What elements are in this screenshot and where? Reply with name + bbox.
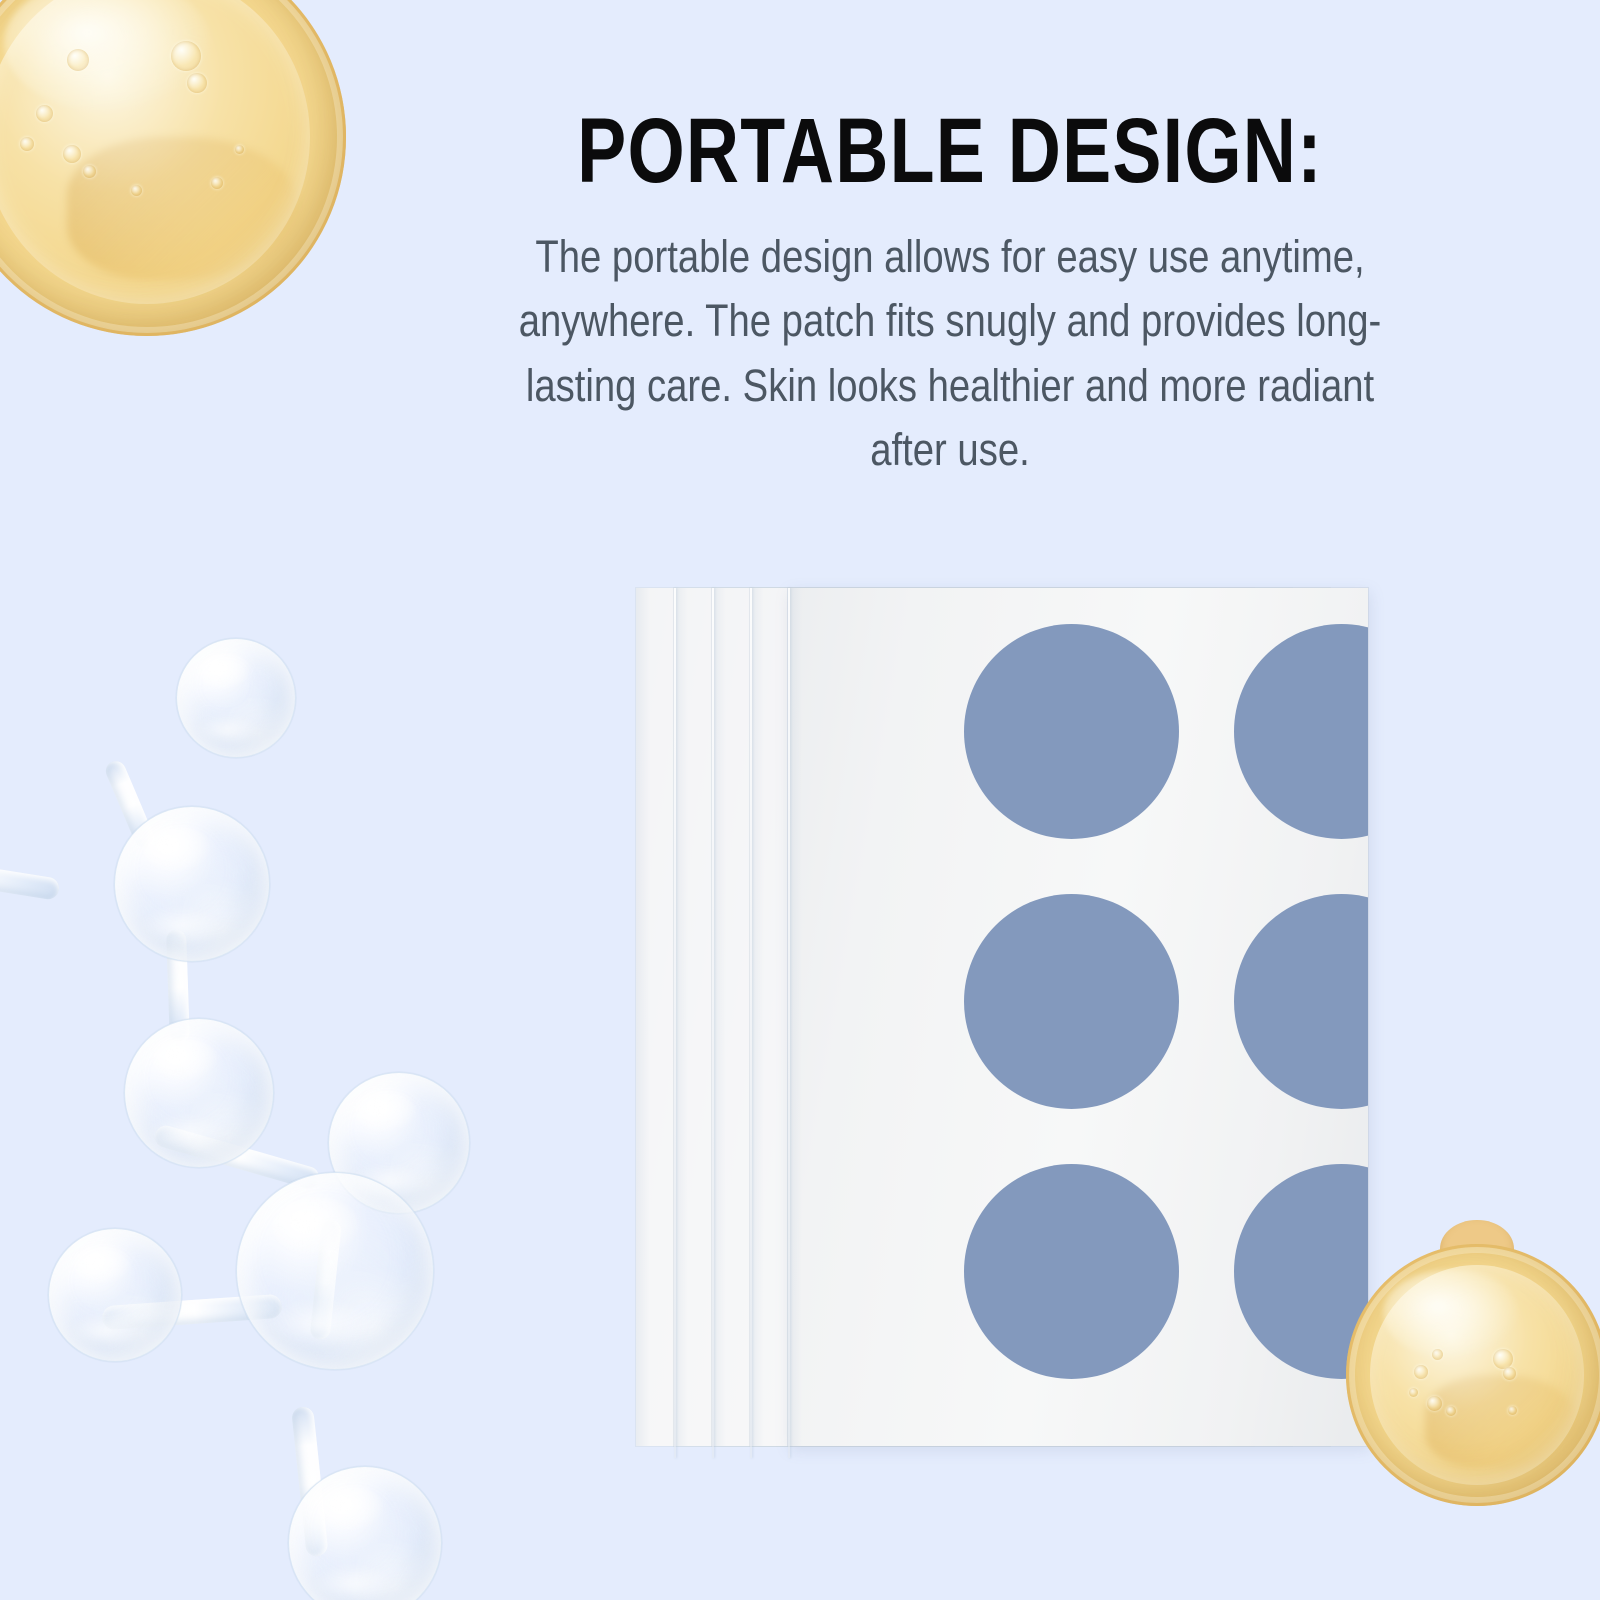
sheet-edge-shadow [788,588,802,1446]
sheet-seam [788,588,790,1458]
sheet-seam [712,588,714,1458]
molecule-atom [48,1228,182,1362]
droplet-bubble [187,73,207,93]
molecule-atom [236,1172,434,1370]
droplet-bubble [1414,1365,1428,1379]
acne-patch [1234,624,1368,839]
sheet-edge-shadow [674,588,688,1446]
molecule-atom [288,1466,442,1600]
molecule-atom [176,638,296,758]
serum-droplet-top-left [0,0,346,336]
droplet-bubble [1493,1349,1513,1369]
droplet-bubble [131,185,142,196]
sheet-seam [674,588,676,1458]
droplet-bubble [211,177,223,189]
droplet-bubble [20,137,34,151]
droplet-bubble [235,145,244,154]
acne-patch [964,1164,1179,1379]
molecule-atom [114,806,270,962]
droplet-bubble [36,105,53,122]
acne-patch [1234,894,1368,1109]
sheet-edge-shadow [636,588,650,1446]
molecule-atom [124,1018,274,1168]
copy-block: PORTABLE DESIGN: The portable design all… [430,105,1470,482]
patch-sheet-stack [620,588,1390,1458]
droplet-bubble [1446,1406,1456,1416]
description-text: The portable design allows for easy use … [508,225,1392,482]
acne-patch [964,894,1179,1109]
sheet-edge-shadow [750,588,764,1446]
acne-patch [964,624,1179,839]
serum-droplet-bottom-right [1346,1244,1600,1506]
page-title: PORTABLE DESIGN: [534,105,1366,199]
poster-canvas: PORTABLE DESIGN: The portable design all… [0,0,1600,1600]
sheet-seam [750,588,752,1458]
droplet-rim [1346,1244,1600,1506]
patch-sheet-front [788,588,1368,1446]
sheet-edge-shadow [712,588,726,1446]
droplet-bubble [1409,1388,1418,1397]
molecule-bond [0,849,61,900]
glass-molecule-illustration [0,600,540,1600]
